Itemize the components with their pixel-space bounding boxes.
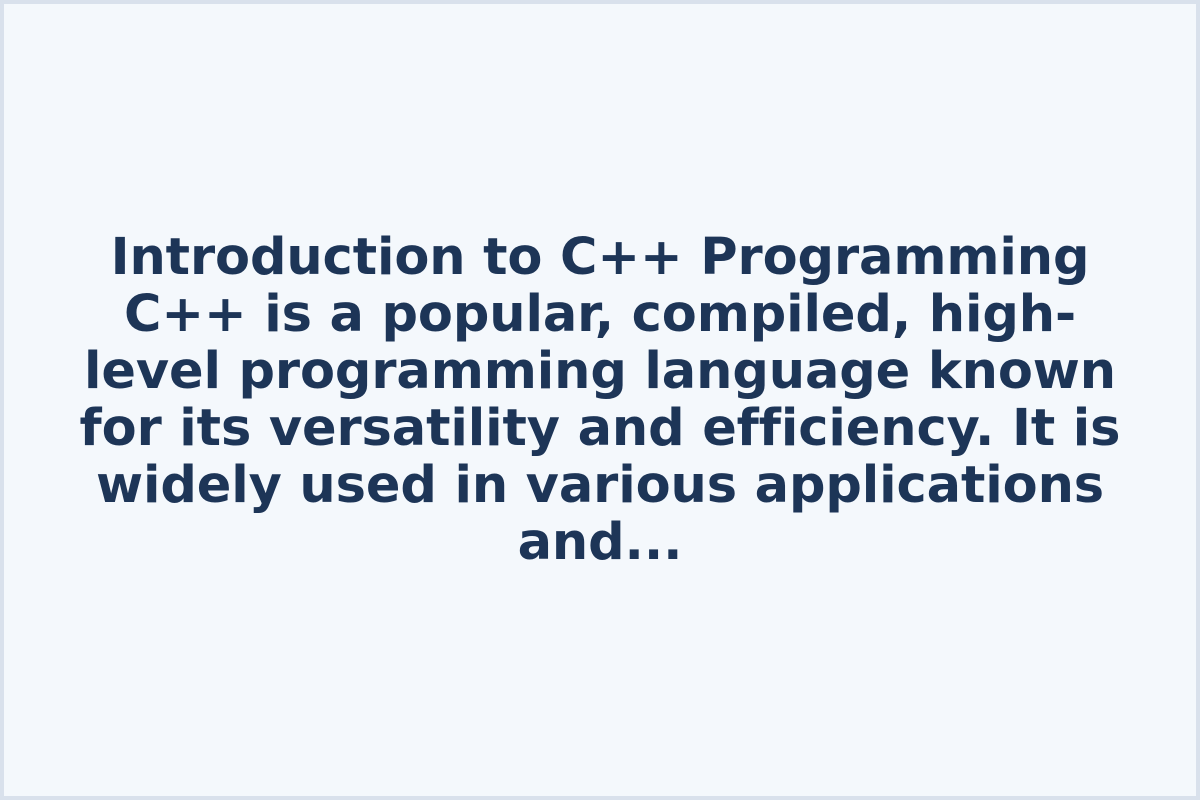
text-card: Introduction to C++ Programming C++ is a… xyxy=(0,0,1200,800)
card-body-text: Introduction to C++ Programming C++ is a… xyxy=(65,229,1135,571)
